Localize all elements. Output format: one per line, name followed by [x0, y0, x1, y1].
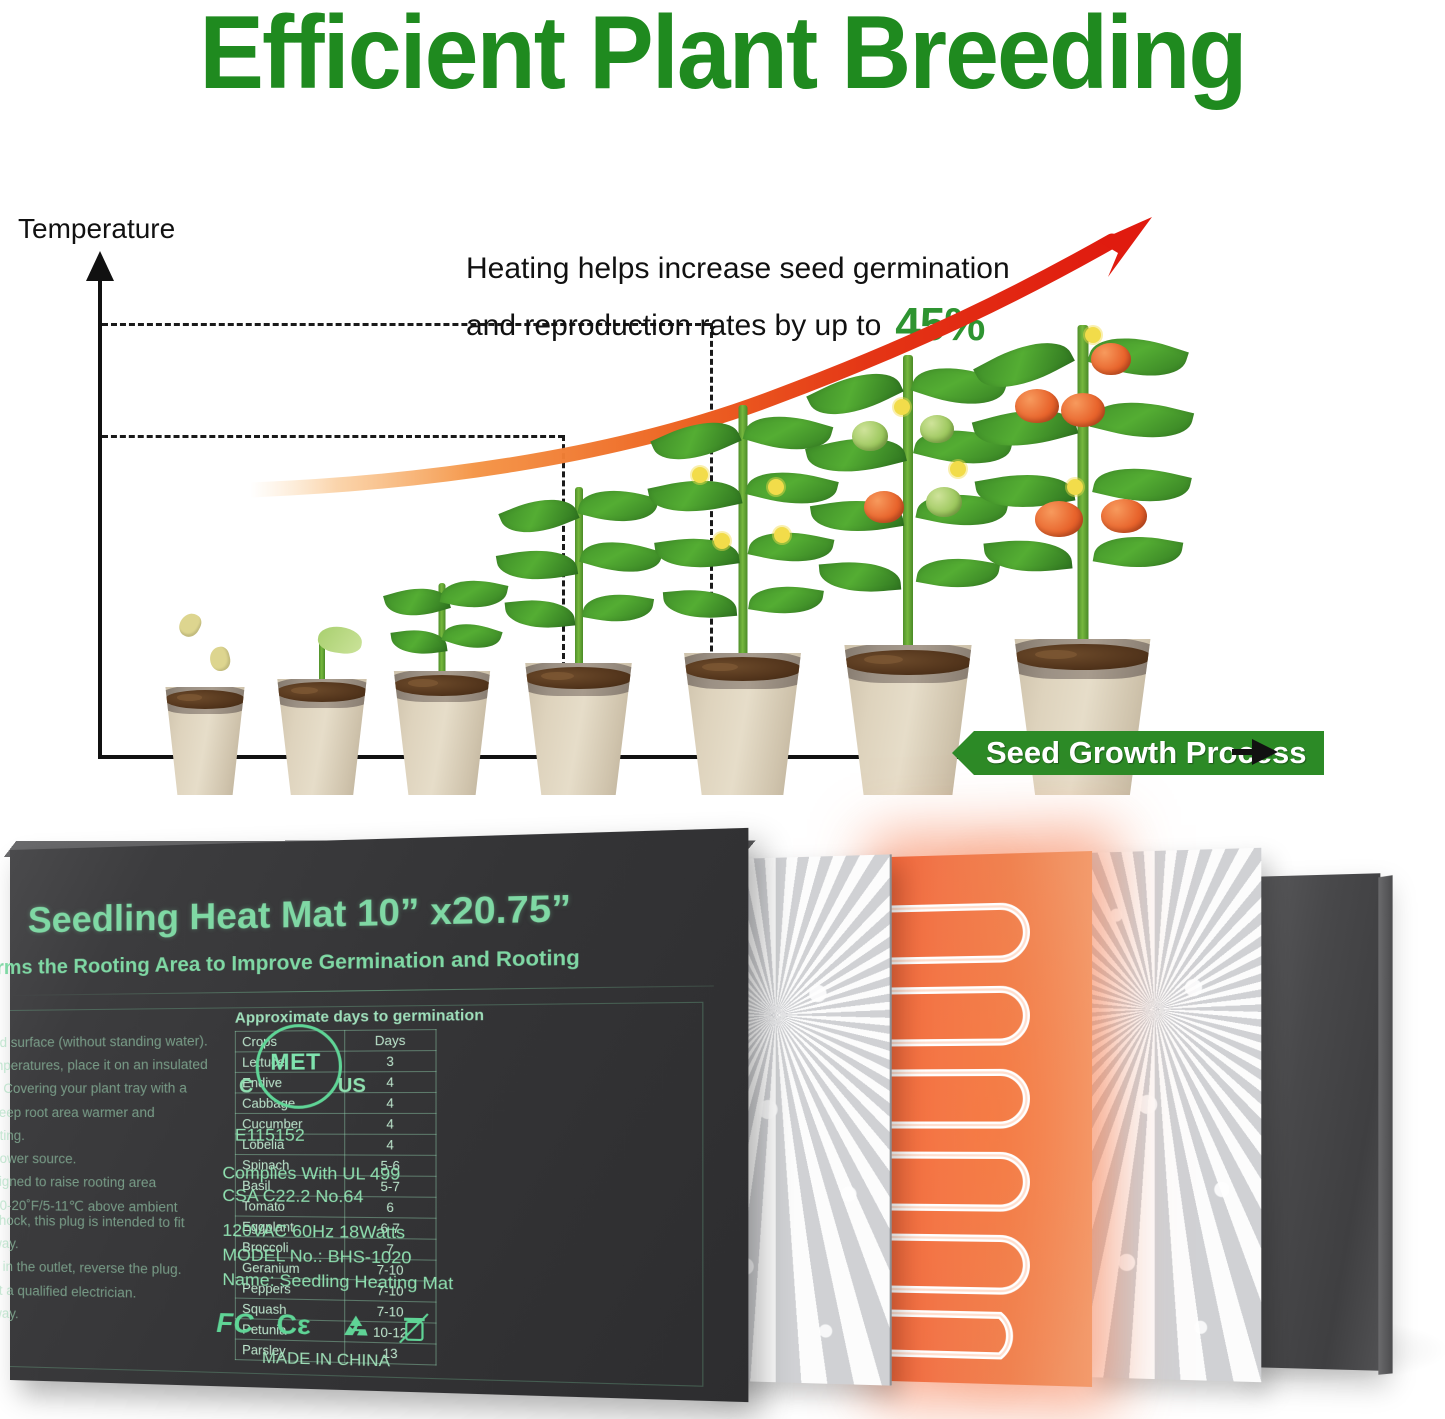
leaf: [1093, 528, 1184, 576]
flower-icon: [1067, 479, 1083, 495]
plant-pot: [386, 671, 498, 795]
flower-icon: [1085, 327, 1101, 343]
growth-stage-sprout: [262, 605, 382, 795]
growth-stage-ripe: [975, 295, 1190, 795]
certification-electrical: 120VAC 60Hz 18Watts: [222, 1219, 405, 1245]
backing-panel-layer: [1245, 873, 1380, 1371]
green-tomato: [920, 415, 954, 443]
days-cell: 4: [345, 1134, 436, 1155]
growth-stage-leafy: [496, 455, 661, 795]
ce-icon: Cε: [277, 1309, 311, 1342]
plant-pot: [675, 653, 811, 795]
page-title: Efficient Plant Breeding: [51, 0, 1395, 114]
growth-temperature-chart: Temperature Time Heating helps increase …: [0, 215, 1445, 815]
met-us-label: US: [338, 1075, 366, 1098]
growth-stage-seedling: [372, 545, 512, 795]
plant-pot: [834, 645, 982, 795]
leaf: [819, 558, 901, 597]
plant-pot: [517, 663, 641, 795]
ripening-tomato: [864, 491, 904, 523]
fabric-edge: [890, 854, 892, 1385]
ripening-tomato: [1091, 343, 1131, 375]
leaf: [1090, 390, 1194, 451]
growth-stage-seed: [150, 655, 260, 795]
certification-csa: CSA C22.2 No.64: [222, 1185, 363, 1210]
ripe-tomato: [1015, 389, 1059, 423]
product-label-subtitle: rms the Rooting Area to Improve Germinat…: [0, 947, 580, 980]
certification-block: MET C US E115152 Complies With UL 499 CS…: [222, 1020, 467, 1121]
met-mark-text: MET: [256, 1049, 336, 1076]
ripe-tomato: [1061, 393, 1105, 427]
green-tomato: [926, 487, 962, 517]
flower-icon: [714, 533, 730, 549]
product-label-title: Seedling Heat Mat 10” x20.75”: [28, 886, 571, 941]
recycle-icon: [340, 1312, 372, 1342]
backing-panel-edge: [1378, 875, 1392, 1375]
leaf: [983, 535, 1072, 578]
label-inner-frame: ed surface (without standing water). mpe…: [10, 1002, 703, 1387]
insulation-fabric-back-layer: [1085, 848, 1261, 1382]
leaf: [441, 615, 502, 657]
met-mark-icon: MET C US: [247, 1022, 348, 1122]
leaf: [496, 542, 578, 587]
fcc-icon: FC: [216, 1307, 253, 1340]
country-of-origin: MADE IN CHINA: [262, 1349, 390, 1371]
flower-icon: [774, 527, 790, 543]
banner-arrow-icon: [1252, 739, 1278, 765]
instructions-text-block-2: shock, this plug is intended to fit way.…: [0, 1209, 235, 1331]
leaf: [505, 596, 576, 633]
fabric-texture: [1085, 848, 1261, 1382]
leaf: [663, 586, 737, 622]
certification-complies: Complies With UL 499: [222, 1162, 400, 1187]
plant-pot: [159, 687, 251, 795]
leaf: [806, 357, 904, 431]
flower-icon: [768, 479, 784, 495]
leaf: [498, 486, 579, 545]
printed-label-panel: Seedling Heat Mat 10” x20.75” rms the Ro…: [10, 828, 748, 1402]
certification-file-number: E115152: [235, 1125, 305, 1146]
label-divider: [10, 985, 714, 996]
flower-icon: [692, 467, 708, 483]
ripe-tomato: [1035, 501, 1083, 537]
flower-icon: [894, 399, 910, 415]
heating-element-layer: [890, 851, 1092, 1387]
certification-name: Name: Seedling Heating Mat: [222, 1269, 453, 1297]
certification-model: MODEL No.: BHS-1020: [222, 1244, 411, 1271]
leaf: [650, 407, 741, 474]
plant-pot: [270, 679, 374, 795]
leaf: [582, 587, 654, 628]
heating-coil-icon: [880, 867, 1092, 1370]
flower-icon: [950, 461, 966, 477]
plant-stem: [738, 405, 747, 673]
green-tomato: [852, 421, 888, 451]
product-layers-photo: Seedling Heat Mat 10” x20.75” rms the Ro…: [0, 835, 1445, 1401]
met-c-label: C: [239, 1076, 253, 1099]
certification-icons-row: FC Cε: [216, 1307, 460, 1350]
weee-bin-icon: [398, 1311, 430, 1345]
ripe-tomato: [1101, 499, 1147, 533]
instructions-text-block-1: ed surface (without standing water). mpe…: [0, 1029, 235, 1219]
